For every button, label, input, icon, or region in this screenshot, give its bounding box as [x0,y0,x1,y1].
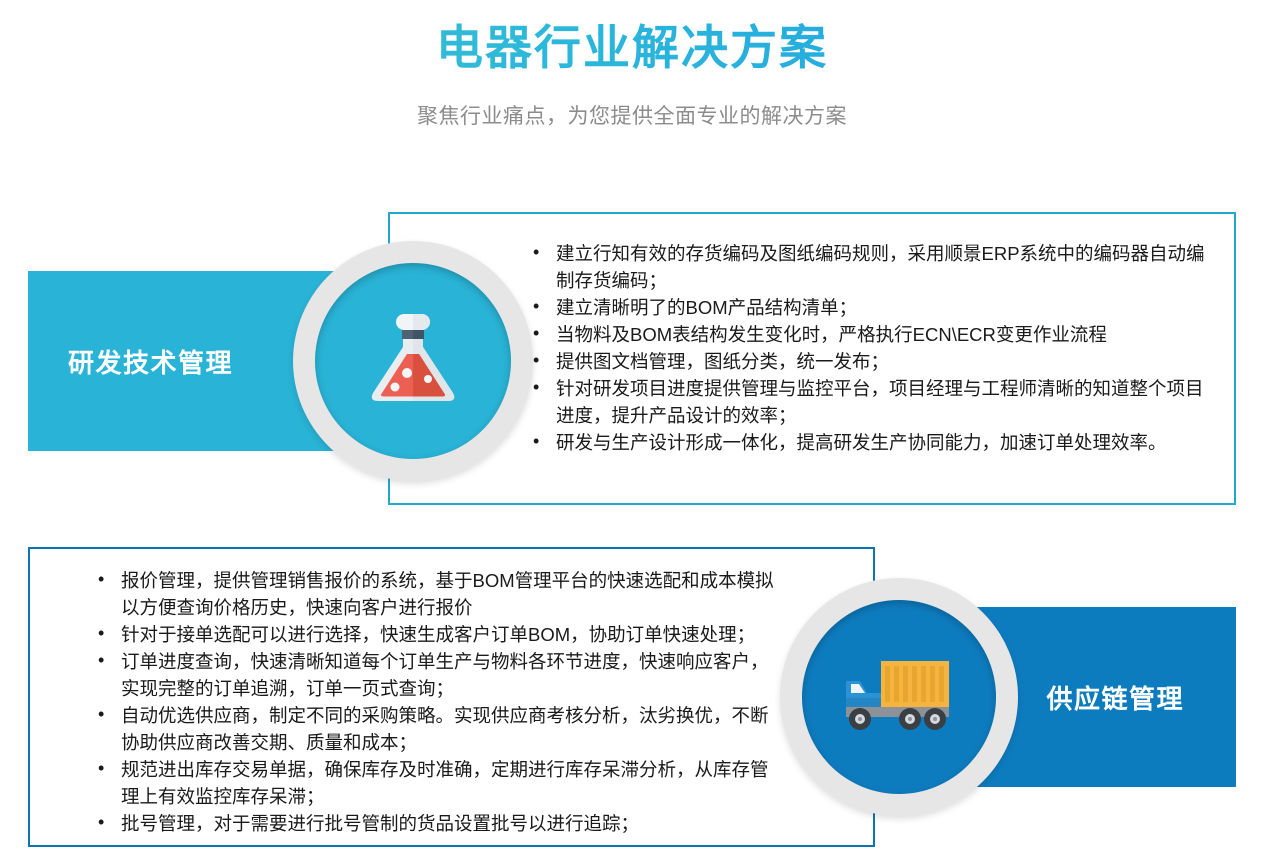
slide-canvas: 电器行业解决方案 聚焦行业痛点，为您提供全面专业的解决方案 建立行知有效的存货编… [0,0,1264,859]
flask-icon [367,311,459,412]
list-item: 研发与生产设计形成一体化，提高研发生产协同能力，加速订单处理效率。 [520,429,1220,456]
list-item: 当物料及BOM表结构发生变化时，严格执行ECN\ECR变更作业流程 [520,321,1220,348]
page-title: 电器行业解决方案 [0,22,1264,74]
list-item: 建立行知有效的存货编码及图纸编码规则，采用顺景ERP系统中的编码器自动编制存货编… [520,240,1220,294]
page-subtitle: 聚焦行业痛点，为您提供全面专业的解决方案 [0,100,1264,130]
list-item: 规范进出库存交易单据，确保库存及时准确，定期进行库存呆滞分析，从库存管理上有效监… [85,756,775,810]
supply-chain-icon-circle [780,578,1018,816]
rd-tech-label-text: 研发技术管理 [68,343,233,380]
supply-chain-icon-circle-inner [802,600,996,794]
supply-chain-label-text: 供应链管理 [1046,679,1184,716]
list-item: 自动优选供应商，制定不同的采购策略。实现供应商考核分析，汰劣换优，不断协助供应商… [85,702,775,756]
list-item: 建立清晰明了的BOM产品结构清单； [520,294,1220,321]
rd-tech-icon-circle [293,241,533,481]
list-item: 提供图文档管理，图纸分类，统一发布； [520,348,1220,375]
list-item: 订单进度查询，快速清晰知道每个订单生产与物料各环节进度，快速响应客户，实现完整的… [85,648,775,702]
list-item: 批号管理，对于需要进行批号管制的货品设置批号以进行追踪； [85,810,775,837]
list-item: 针对研发项目进度提供管理与监控平台，项目经理与工程师清晰的知道整个项目进度，提升… [520,375,1220,429]
rd-tech-bullet-list: 建立行知有效的存货编码及图纸编码规则，采用顺景ERP系统中的编码器自动编制存货编… [520,240,1220,456]
supply-chain-bullet-list: 报价管理，提供管理销售报价的系统，基于BOM管理平台的快速选配和成本模拟以方便查… [85,567,775,837]
list-item: 报价管理，提供管理销售报价的系统，基于BOM管理平台的快速选配和成本模拟以方便查… [85,567,775,621]
list-item: 针对于接单选配可以进行选择，快速生成客户订单BOM，协助订单快速处理； [85,621,775,648]
supply-chain-text-box: 报价管理，提供管理销售报价的系统，基于BOM管理平台的快速选配和成本模拟以方便查… [28,547,875,847]
truck-icon [840,655,958,740]
rd-tech-icon-circle-inner [315,263,511,459]
